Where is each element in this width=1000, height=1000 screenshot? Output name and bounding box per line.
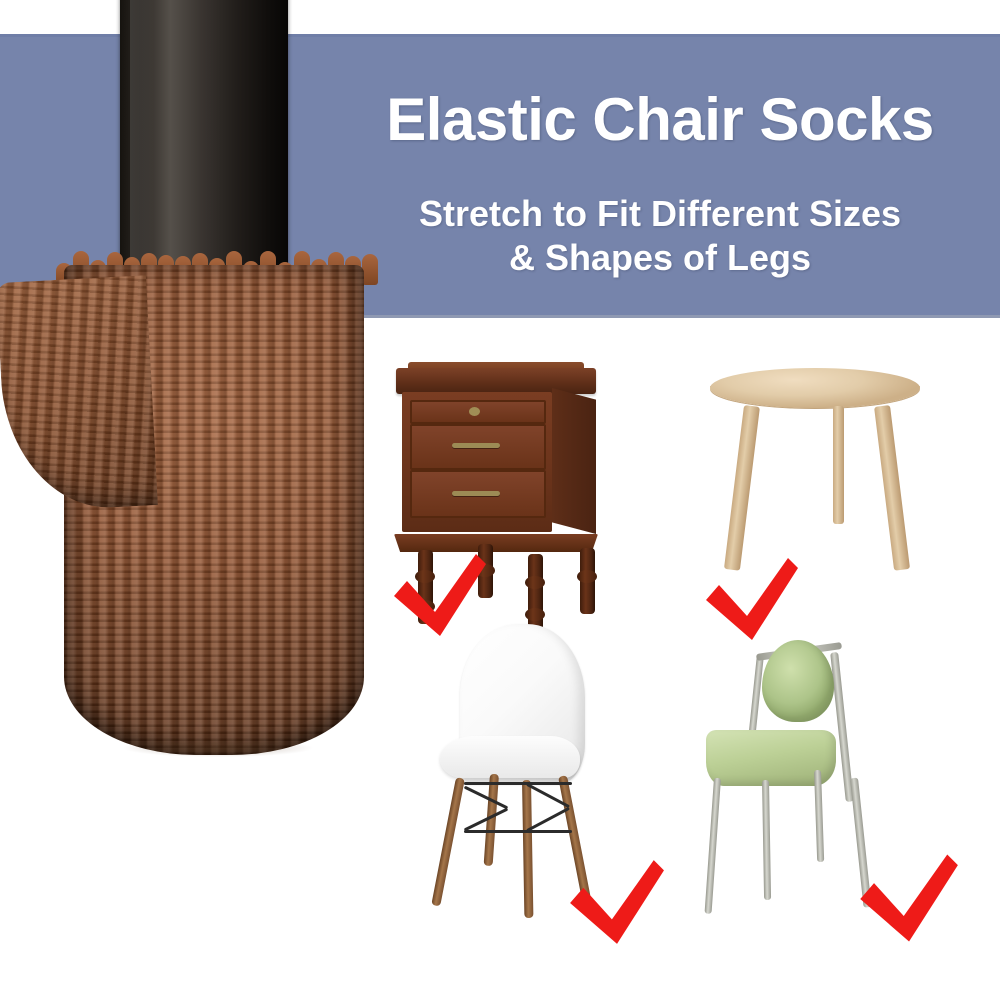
nightstand-handle-middle [452,443,500,448]
subtitle-line-2: & Shapes of Legs [330,236,990,280]
chair-leg-front-left [431,777,465,906]
page-title: Elastic Chair Socks [330,88,990,152]
nightstand-leg-turning [525,576,545,589]
check-icon-green-chair [856,852,960,944]
chair-wire-brace [464,786,508,810]
subtitle-line-1: Stretch to Fit Different Sizes [330,192,990,236]
page-subtitle: Stretch to Fit Different Sizes & Shapes … [330,192,990,280]
chair-wire-crossbar [464,830,572,833]
nightstand-top-edge [396,368,596,394]
sock-contact-shadow [82,735,354,761]
knitted-sock [2,265,362,755]
chair-seat [440,736,580,778]
chair-leg-front-right [522,780,533,918]
chair-leg-back-left [762,780,771,900]
table-top [710,368,920,408]
product-image-canvas: Elastic Chair Socks Stretch to Fit Diffe… [0,0,1000,1000]
check-icon-eames-chair [566,858,666,946]
sock-side-flap [0,275,158,513]
nightstand-handle-bottom [452,491,500,496]
chair-wire-topbar [464,782,572,785]
table-leg-left [724,405,760,571]
table-leg-center [833,406,844,524]
chair-back-pad [762,640,834,722]
nightstand-knob [469,407,480,416]
nightstand-side-panel [552,388,596,534]
table-leg-right [874,405,910,571]
chair-leg-front-left [705,778,721,914]
chair-wire-brace [526,807,570,832]
nightstand-leg-turning [577,570,597,583]
